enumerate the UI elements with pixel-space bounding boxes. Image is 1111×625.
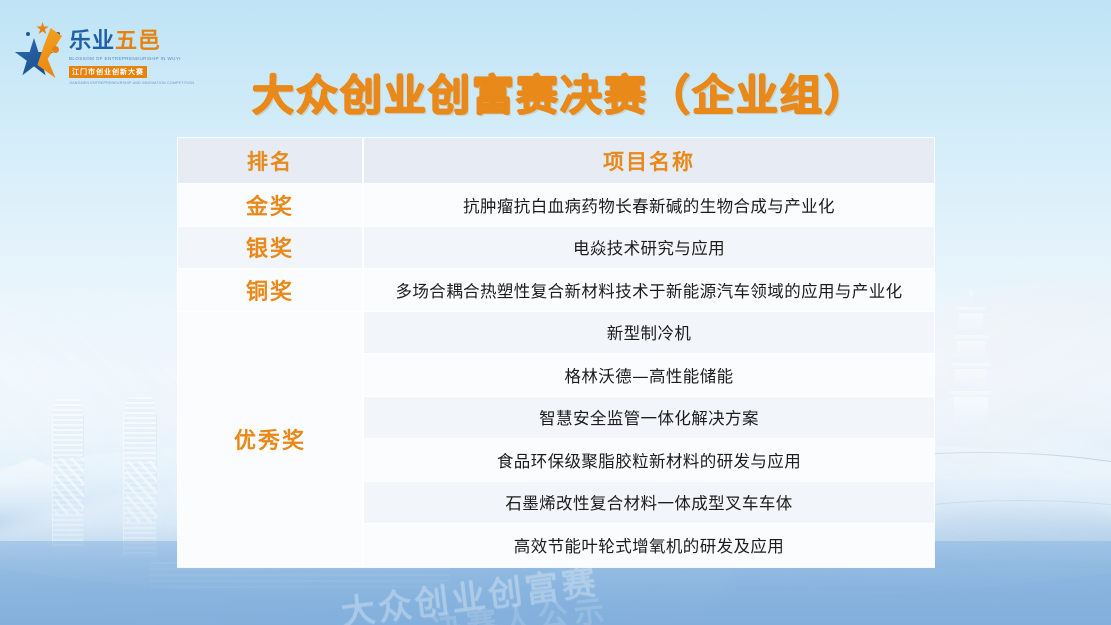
small-star-icon	[36, 22, 49, 35]
pagoda-silhouette	[947, 305, 995, 435]
cell-project-name: 高效节能叶轮式增氧机的研发及应用	[364, 524, 934, 567]
logo-badge-english: JIANGMEN ENTREPRENEURSHIP AND INNOVATION…	[69, 81, 194, 85]
pagoda-body-2	[957, 341, 985, 365]
cell-project-name: 石墨烯改性复合材料一体成型叉车车体	[364, 482, 934, 525]
cell-project-name: 新型制冷机	[364, 312, 934, 355]
pagoda-spire	[970, 291, 973, 307]
logo-english-tagline: BLOSSOM OF ENTREPRENEURSHIP IN WUYI	[69, 56, 197, 61]
table-head: 排名 项目名称	[178, 138, 934, 184]
page-title: 大众创业创富赛决赛（企业组）	[180, 62, 940, 123]
logo-wordmark-part1: 乐业	[69, 28, 115, 53]
cell-project-name: 抗肿瘤抗白血病药物长春新碱的生物合成与产业化	[364, 184, 934, 227]
pagoda-body-3	[955, 369, 987, 393]
sparkle-dot-icon	[26, 32, 30, 36]
results-table: 排名 项目名称 金奖 抗肿瘤抗白血病药物长春新碱的生物合成与产业化 银奖 电焱技…	[178, 138, 934, 567]
cell-rank: 银奖	[178, 227, 364, 270]
cell-project-name: 多场合耦合热塑性复合新材料技术于新能源汽车领域的应用与产业化	[364, 269, 934, 312]
cell-project-name: 食品环保级聚脂胶粒新材料的研发与应用	[364, 439, 934, 482]
logo-text-block: 乐业五邑 BLOSSOM OF ENTREPRENEURSHIP IN WUYI…	[69, 30, 194, 85]
table-row: 银奖 电焱技术研究与应用	[178, 227, 934, 270]
cell-rank: 铜奖	[178, 269, 364, 312]
table-row: 铜奖 多场合耦合热塑性复合新材料技术于新能源汽车领域的应用与产业化	[178, 269, 934, 312]
star-icon	[12, 22, 70, 80]
table-body: 金奖 抗肿瘤抗白血病药物长春新碱的生物合成与产业化 银奖 电焱技术研究与应用 铜…	[178, 184, 934, 567]
orange-dot-icon	[52, 46, 59, 53]
cell-rank: 金奖	[178, 184, 364, 227]
event-logo: 乐业五邑 BLOSSOM OF ENTREPRENEURSHIP IN WUYI…	[12, 18, 172, 80]
column-header-project-name: 项目名称	[364, 138, 934, 184]
cell-project-name: 智慧安全监管一体化解决方案	[364, 397, 934, 440]
logo-wordmark-part2: 五邑	[115, 28, 161, 53]
cell-project-name: 电焱技术研究与应用	[364, 227, 934, 270]
table-row: 优秀奖 新型制冷机	[178, 312, 934, 355]
cell-project-name: 格林沃德—高性能储能	[364, 354, 934, 397]
pagoda-body-1	[959, 313, 983, 337]
logo-wordmark: 乐业五邑	[69, 30, 194, 52]
table-row: 金奖 抗肿瘤抗白血病药物长春新碱的生物合成与产业化	[178, 184, 934, 227]
table-header-row: 排名 项目名称	[178, 138, 934, 184]
column-header-rank: 排名	[178, 138, 364, 184]
cell-rank-merged-excellence: 优秀奖	[178, 312, 364, 567]
logo-badge-label: 江门市创业创新大赛	[69, 66, 147, 78]
